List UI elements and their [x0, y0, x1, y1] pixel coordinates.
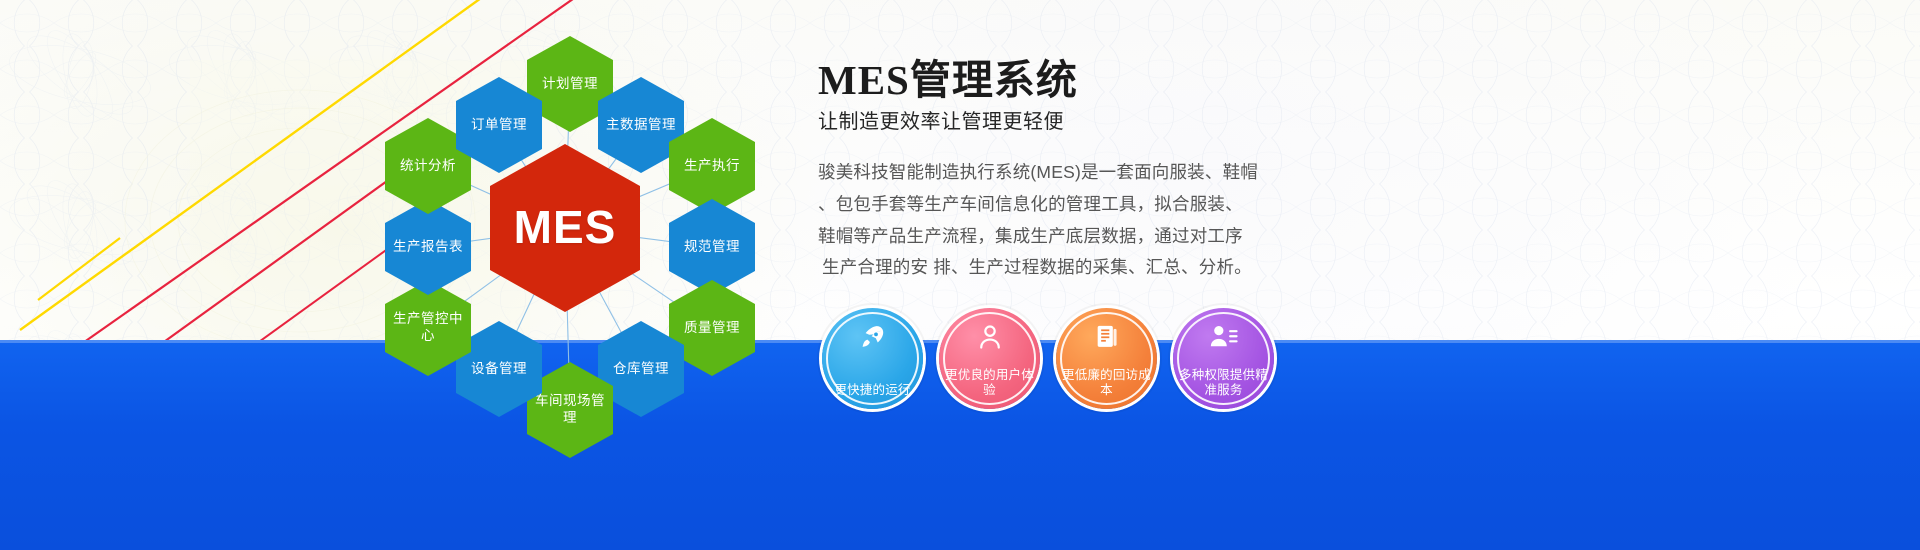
- hex-node-label: 设备管理: [471, 361, 527, 378]
- hex-node-label: 生产执行: [684, 158, 740, 175]
- paragraph-line-2: 鞋帽等产品生产流程，集成生产底层数据，通过对工序: [818, 226, 1243, 246]
- feature-badge-row: 更快捷的运行 更优良的用户体验: [822, 308, 1274, 409]
- hex-node-label: 生产管控中心: [391, 311, 465, 345]
- hex-node-label: 车间现场管理: [533, 393, 607, 427]
- copy-block: MES管理系统 让制造更效率让管理更轻便 骏美科技智能制造执行系统(MES)是一…: [818, 58, 1288, 284]
- hex-node-label: 仓库管理: [613, 361, 669, 378]
- feature-badge-0[interactable]: 更快捷的运行: [822, 308, 923, 409]
- mes-hex-diagram: MES 计划管理 主数据管理 生产执行 规范管理 质量管理 仓库管理 车间现场管…: [330, 8, 800, 448]
- hex-node-label: 统计分析: [400, 158, 456, 175]
- hex-core-label: MES: [514, 199, 617, 257]
- badge-label: 多种权限提供精准服务: [1178, 368, 1270, 399]
- paragraph-line-3: 生产合理的安 排、生产过程数据的采集、汇总、分析。: [818, 257, 1252, 277]
- mes-hero-banner: MES 计划管理 主数据管理 生产执行 规范管理 质量管理 仓库管理 车间现场管…: [0, 0, 1920, 550]
- page-title: MES管理系统: [818, 58, 1288, 104]
- hex-node-label: 计划管理: [542, 76, 598, 93]
- badge-label: 更优良的用户体验: [944, 368, 1036, 399]
- hex-node-label: 主数据管理: [606, 117, 676, 134]
- hex-node-label: 质量管理: [684, 320, 740, 337]
- hex-node-label: 生产报告表: [393, 239, 463, 256]
- document-icon: [1056, 323, 1157, 351]
- users-icon: [1173, 323, 1274, 351]
- user-icon: [939, 323, 1040, 351]
- badge-label: 更快捷的运行: [827, 383, 919, 398]
- feature-badge-2[interactable]: 更低廉的回访成本: [1056, 308, 1157, 409]
- paragraph-line-0: 骏美科技智能制造执行系统(MES)是一套面向服装、鞋帽: [818, 162, 1258, 182]
- hex-node-label: 规范管理: [684, 239, 740, 256]
- hex-node-label: 订单管理: [471, 117, 527, 134]
- feature-badge-3[interactable]: 多种权限提供精准服务: [1173, 308, 1274, 409]
- page-subtitle: 让制造更效率让管理更轻便: [818, 110, 1288, 135]
- description-paragraph: 骏美科技智能制造执行系统(MES)是一套面向服装、鞋帽 、包包手套等生产车间信息…: [818, 157, 1288, 284]
- rocket-icon: [822, 323, 923, 353]
- feature-badge-1[interactable]: 更优良的用户体验: [939, 308, 1040, 409]
- badge-label: 更低廉的回访成本: [1061, 368, 1153, 399]
- paragraph-line-1: 、包包手套等生产车间信息化的管理工具，拟合服装、: [818, 194, 1243, 214]
